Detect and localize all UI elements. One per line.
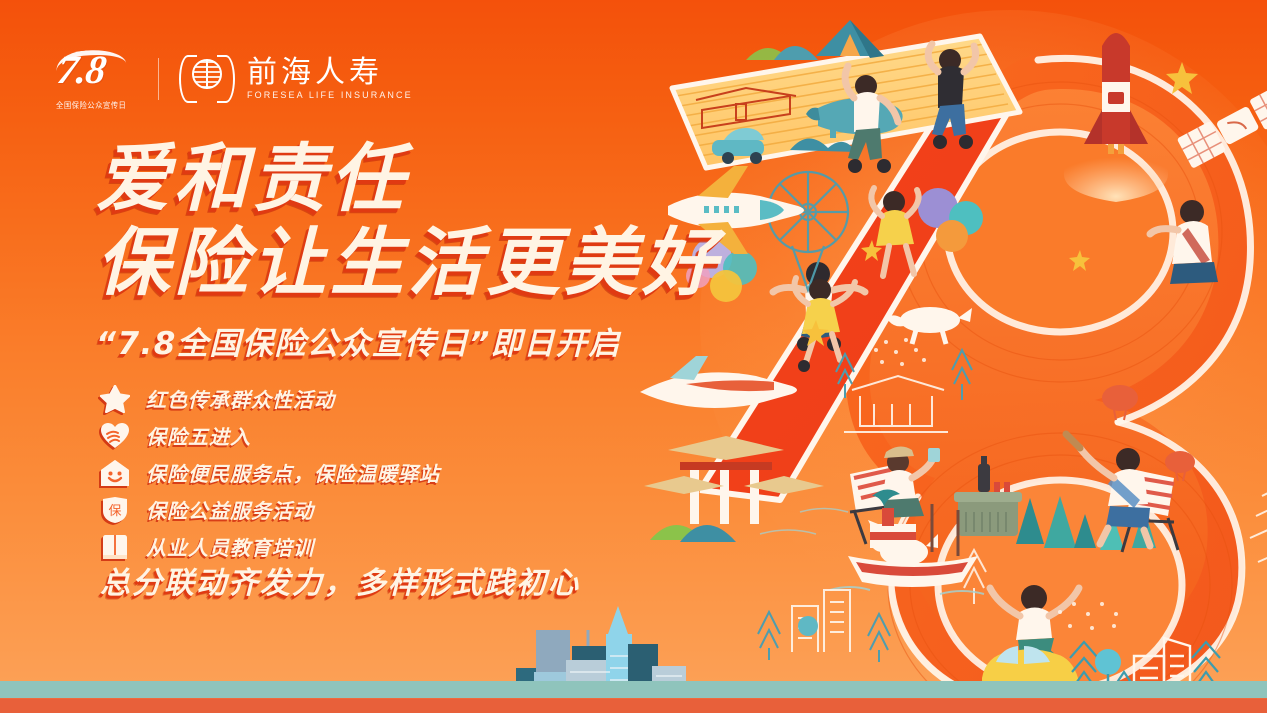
- brand-name-cn: 前海人寿: [247, 58, 413, 88]
- lantern-icon: [1102, 385, 1195, 481]
- activity-list: 红色传承群众性活动 保险五进入: [100, 383, 440, 568]
- header-logos: 7.8 全国保险公众宣传日 前海人寿 FORESEA LIFE INSURANC…: [56, 48, 413, 110]
- striped-chair-left: [850, 466, 896, 544]
- round-tree-icon: [1095, 649, 1121, 675]
- subheadline: “7.8全国保险公众宣传日”即日开启: [96, 318, 621, 363]
- palace-outline-icon: [844, 376, 948, 432]
- pine-tree-icon: [836, 350, 972, 400]
- list-item-label: 保险五进入: [146, 421, 251, 450]
- skyline-buildings: [516, 606, 686, 713]
- list-item-label: 红色传承群众性活动: [146, 384, 335, 413]
- brand-logo: 前海人寿 FORESEA LIFE INSURANCE: [179, 51, 413, 107]
- headline-line-1: 爱和责任: [96, 140, 720, 218]
- picnic-dog-icon: [868, 520, 938, 578]
- city-skyline: [460, 600, 880, 713]
- person-climbing-1: [845, 66, 898, 173]
- pine-outline-icon: [962, 550, 986, 604]
- small-pines-icon: [758, 612, 890, 662]
- svg-text:保: 保: [108, 504, 121, 519]
- cargo-ship-icon: [830, 504, 984, 594]
- headline-line-2: 保险让生活更美好: [96, 224, 720, 302]
- yellow-car-icon: [980, 646, 1078, 705]
- jet-plane-icon: [640, 356, 797, 408]
- running-child: [773, 262, 865, 351]
- ground-red-band-upper: [0, 698, 1267, 707]
- ground-red-band: [0, 699, 1267, 713]
- number-7-shape: [672, 36, 1020, 500]
- person-climbing-2: [928, 44, 975, 149]
- list-item-label: 保险公益服务活动: [146, 495, 314, 524]
- picnic-scene: [850, 434, 1178, 672]
- number-8-shape: [846, 53, 1253, 713]
- list-item: 红色传承群众性活动: [100, 383, 440, 414]
- list-item-label: 从业人员教育培训: [146, 532, 314, 561]
- ground-teal-band: [0, 681, 1267, 699]
- dog-icon: [888, 307, 972, 344]
- rocket-icon: [1064, 33, 1168, 202]
- list-item: 保 保险公益服务活动: [100, 494, 440, 525]
- building-outline-icons: [1134, 638, 1190, 702]
- list-item-label: 保险便民服务点，保险温暖驿站: [146, 458, 440, 487]
- day-logo-78: 7.8 全国保险公众宣传日: [56, 48, 142, 110]
- list-item: 保险五进入: [100, 420, 440, 451]
- satellite-icon: [1177, 82, 1267, 168]
- water-lines: [760, 509, 848, 535]
- balloons-icon-2: [918, 188, 983, 252]
- cooler-box-icon: [954, 456, 1022, 536]
- logo-divider: [158, 58, 159, 100]
- day-logo-caption: 全国保险公众宣传日: [56, 100, 126, 111]
- rhino-icon: [806, 98, 903, 138]
- person-picnic-right: [1066, 434, 1150, 546]
- girl-yellow-dress: [871, 188, 918, 276]
- brand-name-en: FORESEA LIFE INSURANCE: [247, 90, 413, 100]
- striped-chair-right: [1122, 470, 1178, 552]
- poster-canvas: 7.8 全国保险公众宣传日 前海人寿 FORESEA LIFE INSURANC…: [0, 0, 1267, 713]
- girl-yellow-dress-2: [795, 278, 856, 372]
- jumping-child: [990, 585, 1079, 672]
- small-city-outline: [792, 590, 850, 652]
- small-round-tree: [798, 616, 818, 636]
- hill-icon: [746, 46, 818, 60]
- headline-block: 爱和责任 保险让生活更美好: [96, 140, 720, 303]
- temple-outline-icon: [696, 88, 796, 128]
- big-78-illustration: [640, 0, 1267, 713]
- person-sitting-right: [1150, 200, 1218, 284]
- tree-outline-icons: [1070, 642, 1220, 702]
- skyline-bushes: [474, 681, 762, 713]
- bottom-right-scene: [930, 620, 1267, 713]
- shield-bao-icon: 保: [100, 496, 130, 524]
- pine-hill-icon: [650, 525, 736, 542]
- bird-icon: [872, 489, 900, 506]
- bottom-tagline: 总分联动齐发力，多样形式践初心: [100, 558, 580, 602]
- heart-hands-icon: [100, 422, 130, 450]
- day-logo-number: 7.8: [55, 46, 109, 93]
- tent-icon: [816, 20, 884, 58]
- book-icon: [100, 533, 130, 561]
- bush-icon: [790, 138, 856, 152]
- yellow-stars-icon: [802, 62, 1267, 398]
- globe-icon: [192, 59, 222, 89]
- confetti-dots: [874, 338, 1118, 630]
- brand-text-block: 前海人寿 FORESEA LIFE INSURANCE: [247, 58, 413, 100]
- globe-laurel-emblem-icon: [179, 51, 235, 107]
- pagoda-outline-icon: [1250, 482, 1267, 586]
- star-icon: [100, 385, 130, 413]
- pine-cluster-icon: [1016, 496, 1156, 550]
- smiling-house-icon: [100, 459, 130, 487]
- chinese-gate-icon: [644, 436, 824, 524]
- ferris-wheel-icon: [768, 172, 848, 290]
- person-picnic-left: [882, 446, 940, 518]
- sun-glow: [700, 10, 1267, 630]
- list-item: 保险便民服务点，保险温暖驿站: [100, 457, 440, 488]
